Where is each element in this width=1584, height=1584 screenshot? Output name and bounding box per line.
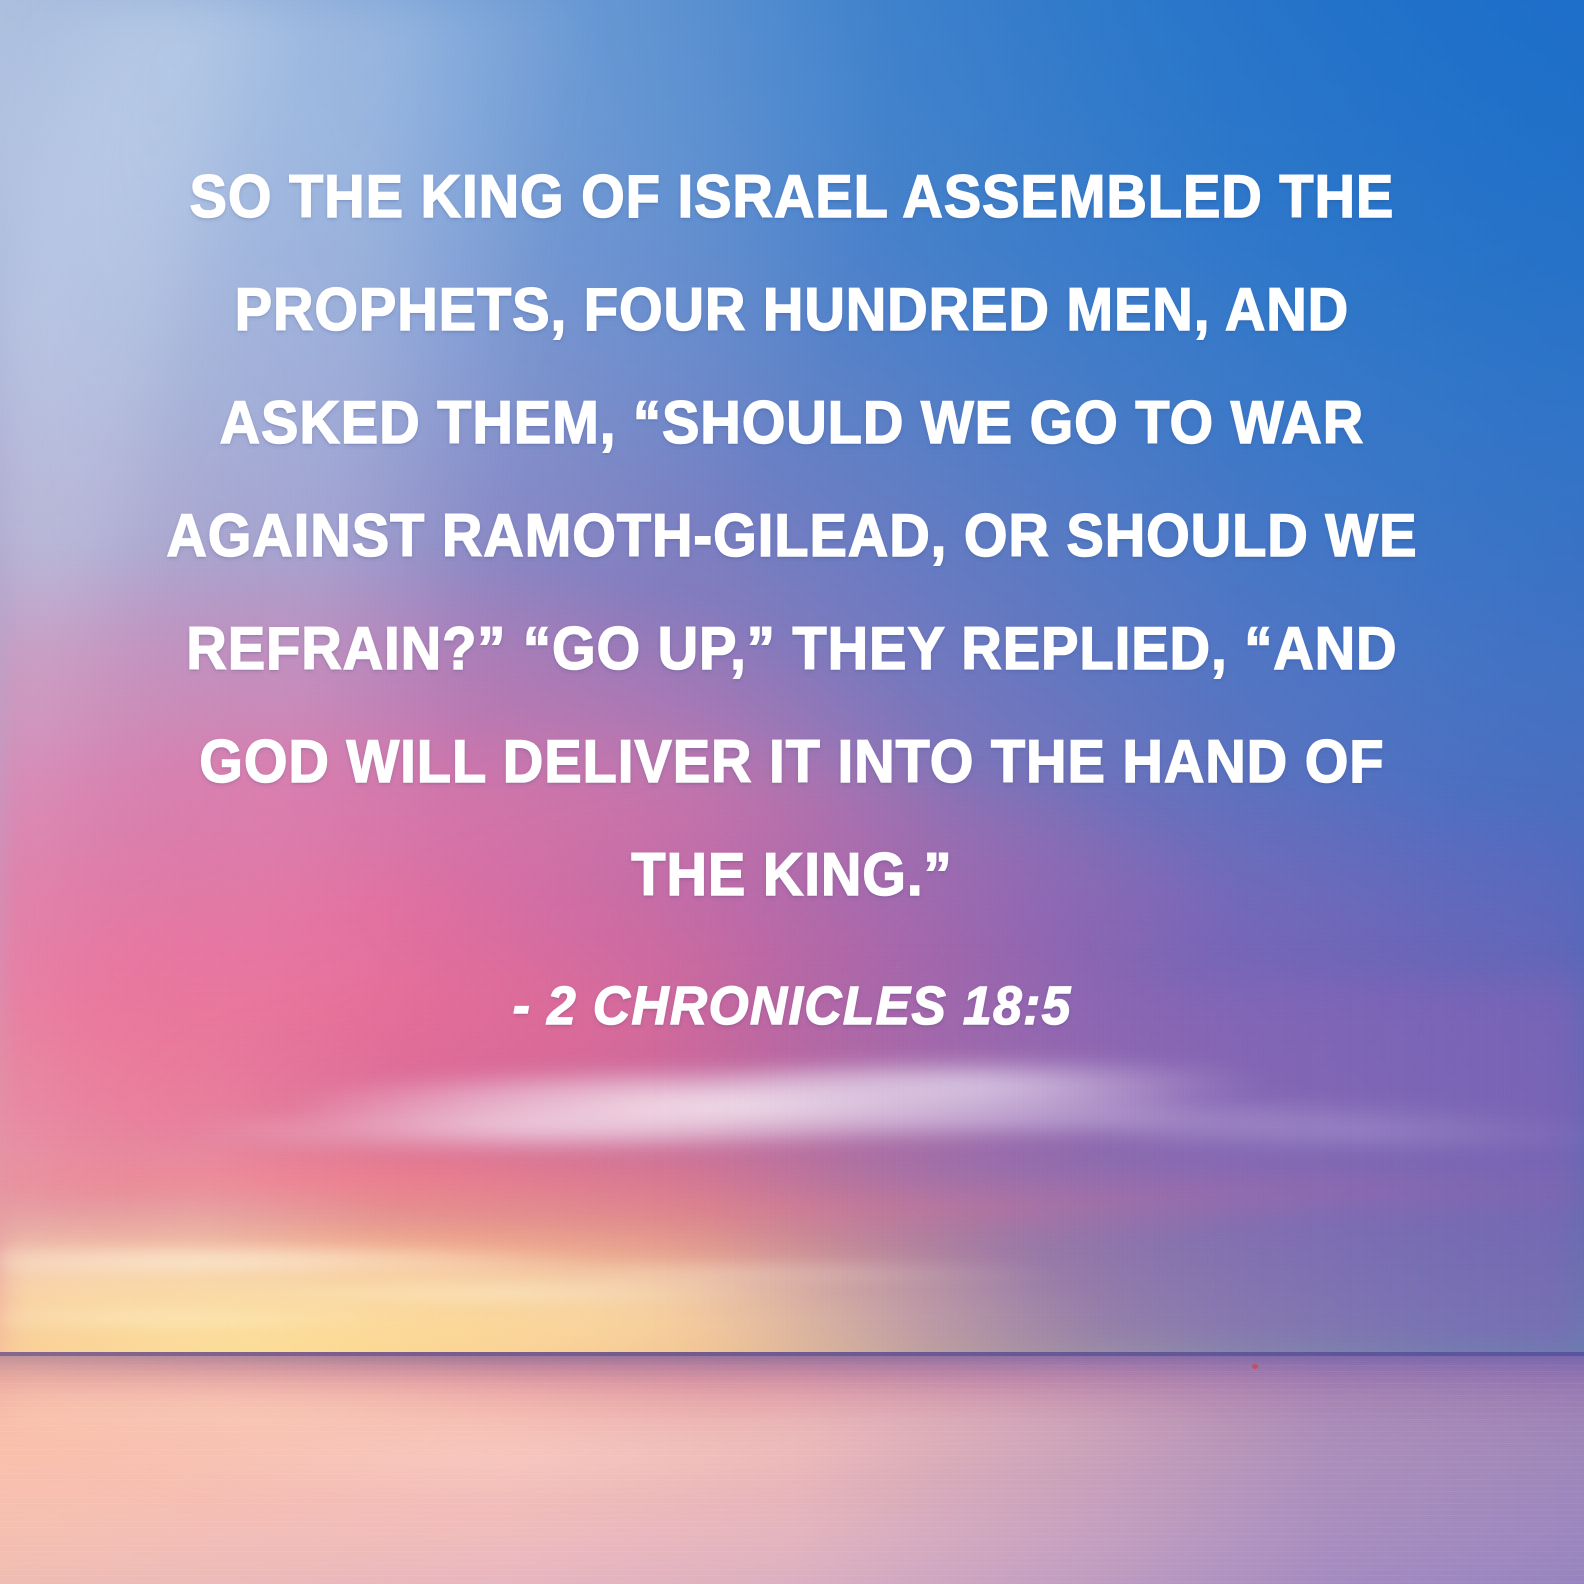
right-horizon-purple-tint: [0, 982, 1584, 1353]
ocean-water: [0, 1352, 1584, 1584]
verse-line-2: PROPHETS, FOUR HUNDRED MEN, AND: [55, 253, 1528, 366]
verse-text-block: SO THE KING OF ISRAEL ASSEMBLED THE PROP…: [0, 140, 1584, 931]
verse-image-canvas: SO THE KING OF ISRAEL ASSEMBLED THE PROP…: [0, 0, 1584, 1584]
verse-line-3: ASKED THEM, “SHOULD WE GO TO WAR: [55, 366, 1528, 479]
attribution-text: - 2 CHRONICLES 18:5: [512, 975, 1071, 1037]
verse-line-1: SO THE KING OF ISRAEL ASSEMBLED THE: [55, 140, 1528, 253]
verse-attribution: - 2 CHRONICLES 18:5: [0, 975, 1584, 1037]
verse-line-7: THE KING.”: [55, 818, 1528, 931]
verse-line-5: REFRAIN?” “GO UP,” THEY REPLIED, “AND: [55, 592, 1528, 705]
verse-line-4: AGAINST RAMOTH-GILEAD, OR SHOULD WE: [55, 479, 1528, 592]
verse-line-6: GOD WILL DELIVER IT INTO THE HAND OF: [55, 705, 1528, 818]
